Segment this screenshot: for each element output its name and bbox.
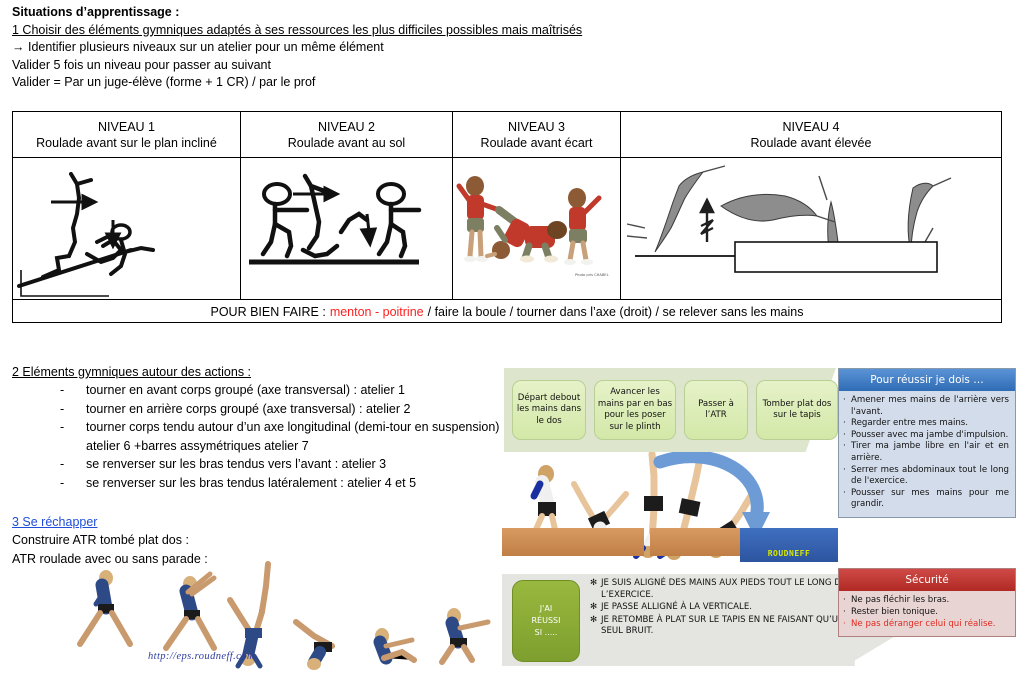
list-item-text: Rester bien tonique.	[851, 607, 1009, 619]
bullet-icon: ·	[843, 465, 851, 488]
list-item: ✻JE RETOMBE À PLAT SUR LE TAPIS EN NE FA…	[590, 615, 860, 638]
list-item: ·Pousser sur mes mains pour me grandir.	[843, 488, 1009, 511]
section-2-title: 2 Eléments gymniques autour des actions …	[12, 363, 512, 381]
intro-line-3: Valider 5 fois un niveau pour passer au …	[12, 57, 712, 75]
level-header-3: NIVEAU 3 Roulade avant écart	[453, 112, 621, 157]
level-desc-1: Roulade avant sur le plan incliné	[36, 135, 217, 151]
list-dash: -	[60, 418, 64, 437]
safety-panel: Sécurité ·Ne pas fléchir les bras. ·Rest…	[838, 568, 1016, 637]
bullet-icon: ·	[843, 607, 851, 619]
step-box-1: Départ debout les mains dans le dos	[512, 380, 586, 440]
level-header-4: NIVEAU 4 Roulade avant élevée	[621, 112, 1001, 157]
list-item-text: se renverser sur les bras tendus latéral…	[86, 476, 416, 490]
list-item-text: JE SUIS ALIGNÉ DES MAINS AUX PIEDS TOUT …	[601, 578, 860, 601]
atr-photo-sequence: ROUDNEFF	[502, 452, 838, 570]
success-badge: J'AI RÉUSSI SI .....	[512, 580, 580, 662]
credit-url: http://eps.roudneff.com	[148, 651, 255, 662]
levels-header-row: NIVEAU 1 Roulade avant sur le plan incli…	[13, 112, 1001, 158]
flower-bullet-icon: ✻	[590, 578, 601, 601]
bullet-icon: ·	[843, 619, 851, 631]
bullet-icon: ·	[843, 595, 851, 607]
success-criteria-list: ✻JE SUIS ALIGNÉ DES MAINS AUX PIEDS TOUT…	[590, 578, 860, 639]
levels-table: NIVEAU 1 Roulade avant sur le plan incli…	[12, 111, 1002, 323]
wooden-plinth-left	[502, 528, 644, 556]
bullet-icon: ·	[843, 418, 851, 430]
svg-text:Photo pris CHABEL: Photo pris CHABEL	[575, 273, 609, 277]
level-name-2: NIVEAU 2	[318, 119, 375, 135]
list-item-text: tourner corps tendu autour d’un axe long…	[86, 420, 506, 453]
bullet-icon: ·	[843, 441, 851, 464]
list-item: -se renverser sur les bras tendus latéra…	[12, 474, 512, 493]
list-item-text: Pousser sur mes mains pour me grandir.	[851, 488, 1009, 511]
list-item-text: Tirer ma jambe libre en l'air et en arri…	[851, 441, 1009, 464]
list-dash: -	[60, 381, 64, 400]
safety-panel-title: Sécurité	[839, 569, 1015, 591]
level-illustration-1	[13, 158, 241, 299]
list-item: ·Serrer mes abdominaux tout le long de l…	[843, 465, 1009, 488]
pour-bien-faire-row: POUR BIEN FAIRE : menton - poitrine / fa…	[13, 300, 1001, 323]
list-item-text: Pousser avec ma jambe d'impulsion.	[851, 430, 1009, 442]
success-panel: Pour réussir je dois … ·Amener mes mains…	[838, 368, 1016, 518]
gymnast-straddle-roll-icon: Photo pris CHABEL	[453, 158, 621, 299]
stick-figures-incline-icon	[13, 158, 241, 299]
level-name-4: NIVEAU 4	[783, 119, 840, 135]
level-illustration-3: Photo pris CHABEL	[453, 158, 621, 299]
level-desc-2: Roulade avant au sol	[288, 135, 405, 151]
bullet-icon: ·	[843, 430, 851, 442]
pbf-label: POUR BIEN FAIRE :	[211, 305, 326, 319]
list-item: ·Tirer ma jambe libre en l'air et en arr…	[843, 441, 1009, 464]
list-item: -tourner en arrière corps groupé (axe tr…	[12, 400, 512, 419]
intro-line-2: → Identifier plusieurs niveaux sur un at…	[12, 39, 712, 57]
intro-line-1: 1 Choisir des éléments gymniques adaptés…	[12, 22, 712, 40]
level-illustration-4	[621, 158, 1001, 299]
bullet-icon: ·	[843, 395, 851, 418]
levels-illustration-row: Photo pris CHABEL	[13, 158, 1001, 300]
step-box-4: Tomber plat dos sur le tapis	[756, 380, 838, 440]
list-item: ✻JE SUIS ALIGNÉ DES MAINS AUX PIEDS TOUT…	[590, 578, 860, 601]
bullet-icon: ·	[843, 488, 851, 511]
success-badge-line-3: SI .....	[535, 627, 558, 639]
wooden-plinth-right	[650, 528, 740, 556]
list-item: ·Ne pas fléchir les bras.	[843, 595, 1009, 607]
pbf-accent: menton - poitrine	[330, 305, 424, 319]
stick-figures-floor-icon	[241, 158, 453, 299]
list-item: -tourner corps tendu autour d’un axe lon…	[12, 418, 512, 455]
success-panel-title: Pour réussir je dois …	[839, 369, 1015, 391]
list-item-text: tourner en arrière corps groupé (axe tra…	[86, 402, 410, 416]
list-item-text: Serrer mes abdominaux tout le long de l'…	[851, 465, 1009, 488]
step-box-2: Avancer les mains par en bas pour les po…	[594, 380, 676, 440]
level-name-1: NIVEAU 1	[98, 119, 155, 135]
success-panel-body: ·Amener mes mains de l'arrière vers l'av…	[839, 391, 1015, 517]
level-header-2: NIVEAU 2 Roulade avant au sol	[241, 112, 453, 157]
section-3-line-1: Construire ATR tombé plat dos :	[12, 531, 492, 550]
flower-bullet-icon: ✻	[590, 602, 601, 614]
elevated-roll-sketch-icon	[621, 158, 1001, 299]
list-dash: -	[60, 400, 64, 419]
success-badge-line-2: RÉUSSI	[532, 615, 561, 627]
list-item: ✻JE PASSE ALLIGNÉ À LA VERTICALE.	[590, 602, 860, 614]
mat-brand-label: ROUDNEFF	[742, 549, 836, 558]
success-badge-line-1: J'AI	[540, 603, 552, 615]
section-2-list: -tourner en avant corps groupé (axe tran…	[12, 381, 512, 492]
intro-title: Situations d’apprentissage :	[12, 4, 712, 22]
list-item: -tourner en avant corps groupé (axe tran…	[12, 381, 512, 400]
level-illustration-2	[241, 158, 453, 299]
list-item-text: Amener mes mains de l'arrière vers l'ava…	[851, 395, 1009, 418]
list-dash: -	[60, 474, 64, 493]
list-item-text: Regarder entre mes mains.	[851, 418, 1009, 430]
list-item-text: se renverser sur les bras tendus vers l’…	[86, 457, 386, 471]
intro-block: Situations d’apprentissage : 1 Choisir d…	[12, 4, 712, 92]
section-3-title: 3 Se réchapper	[12, 513, 492, 531]
atr-diagram: Départ debout les mains dans le dos Avan…	[500, 366, 1017, 676]
list-dash: -	[60, 455, 64, 474]
list-item: -se renverser sur les bras tendus vers l…	[12, 455, 512, 474]
level-desc-4: Roulade avant élevée	[751, 135, 872, 151]
pbf-rest: / faire la boule / tourner dans l’axe (d…	[428, 305, 804, 319]
list-item-text: Ne pas déranger celui qui réalise.	[851, 619, 1009, 631]
flower-bullet-icon: ✻	[590, 615, 601, 638]
list-item: ·Ne pas déranger celui qui réalise.	[843, 619, 1009, 631]
list-item: ·Rester bien tonique.	[843, 607, 1009, 619]
level-header-1: NIVEAU 1 Roulade avant sur le plan incli…	[13, 112, 241, 157]
list-item-text: JE PASSE ALLIGNÉ À LA VERTICALE.	[601, 602, 860, 614]
list-item-text: JE RETOMBE À PLAT SUR LE TAPIS EN NE FAI…	[601, 615, 860, 638]
list-item-text: Ne pas fléchir les bras.	[851, 595, 1009, 607]
list-item: ·Regarder entre mes mains.	[843, 418, 1009, 430]
list-item: ·Amener mes mains de l'arrière vers l'av…	[843, 395, 1009, 418]
list-item: ·Pousser avec ma jambe d'impulsion.	[843, 430, 1009, 442]
safety-panel-body: ·Ne pas fléchir les bras. ·Rester bien t…	[839, 591, 1015, 636]
level-name-3: NIVEAU 3	[508, 119, 565, 135]
step-box-3: Passer à l’ATR	[684, 380, 748, 440]
intro-line-4: Valider = Par un juge-élève (forme + 1 C…	[12, 74, 712, 92]
level-desc-3: Roulade avant écart	[481, 135, 593, 151]
list-item-text: tourner en avant corps groupé (axe trans…	[86, 383, 405, 397]
section-2: 2 Eléments gymniques autour des actions …	[12, 363, 512, 492]
